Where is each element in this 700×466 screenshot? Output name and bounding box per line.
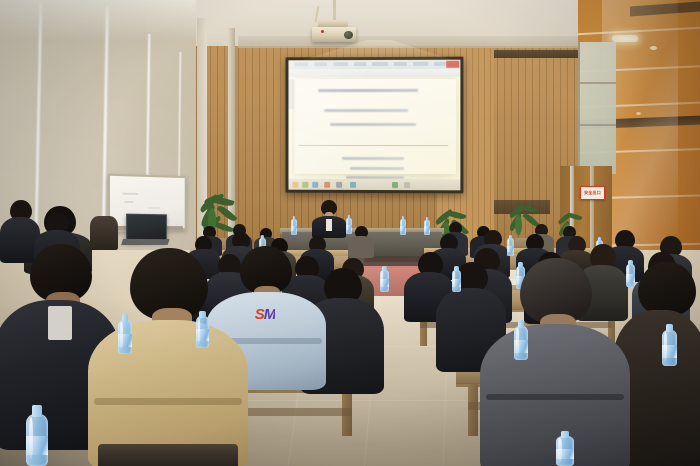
water-bottle <box>26 414 48 466</box>
projector-lens-icon <box>344 31 353 39</box>
projection-screen <box>286 57 464 194</box>
attendee <box>348 226 374 256</box>
app-toolbar-row <box>288 69 460 78</box>
power-led-icon <box>321 30 324 33</box>
windows-taskbar[interactable] <box>288 179 460 191</box>
projector-mount-rod <box>333 0 336 22</box>
specular-highlight <box>636 112 641 115</box>
specular-highlight <box>650 46 657 50</box>
water-bottle <box>556 436 574 466</box>
document-page <box>294 79 456 174</box>
front-soffit-shadow <box>238 36 578 48</box>
conference-room-photo: 安全出口 <box>0 0 700 466</box>
water-bottle <box>400 219 406 235</box>
water-bottle <box>662 330 677 366</box>
water-bottle <box>514 326 528 360</box>
tan-jacket-attendee <box>88 248 248 466</box>
laptop-base <box>121 239 170 245</box>
water-bottle <box>424 220 430 235</box>
exit-sign-text: 安全出口 <box>584 191 601 195</box>
water-bottle <box>196 316 209 348</box>
water-bottle <box>291 219 297 235</box>
screen-surface <box>288 60 460 191</box>
close-icon[interactable] <box>446 61 459 68</box>
emergency-exit-sign: 安全出口 <box>580 186 605 200</box>
upper-glazed-panel <box>578 42 616 174</box>
presenter <box>312 200 346 236</box>
wall-light-reflection <box>612 35 638 42</box>
grey-jacket-attendee <box>480 258 630 466</box>
water-bottle <box>452 270 461 292</box>
water-bottle <box>118 320 132 354</box>
